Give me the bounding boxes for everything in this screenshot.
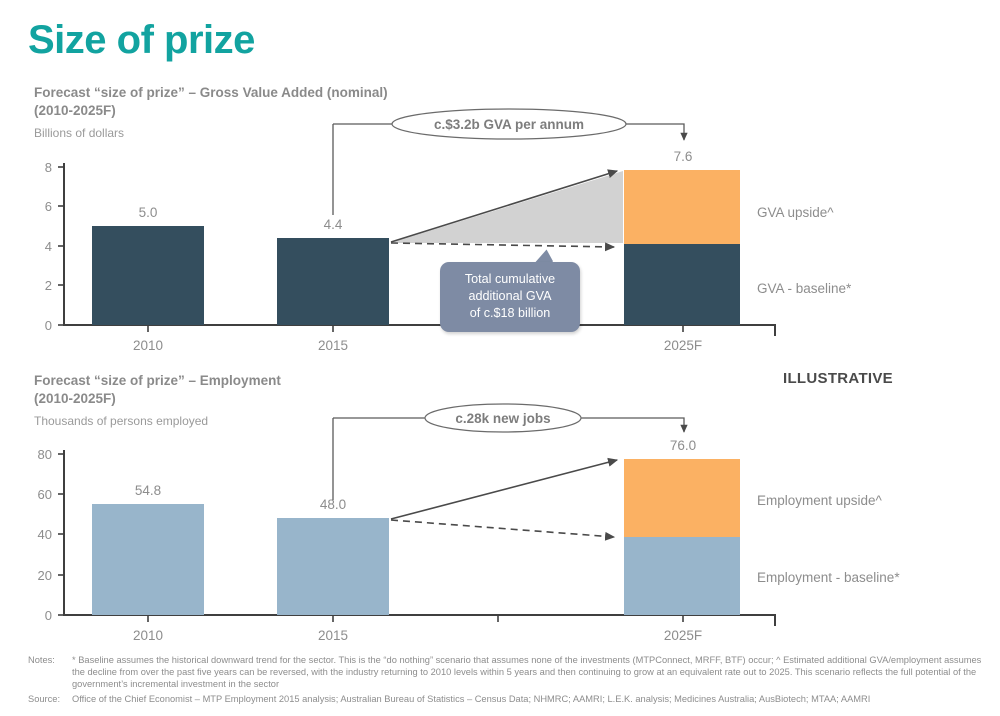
emp-ytick-20: 20 xyxy=(38,568,52,583)
callout-line-1: Total cumulative xyxy=(448,271,572,288)
emp-bar-2010 xyxy=(92,504,204,615)
emp-ytick-80: 80 xyxy=(38,447,52,462)
emp-cat-2010: 2010 xyxy=(133,628,163,643)
notes-label: Notes: xyxy=(28,654,55,666)
chart-employment: 80 60 40 20 0 54.8 48.0 76.0 2010 2015 2… xyxy=(0,0,1000,716)
emp-legend-baseline: Employment - baseline* xyxy=(757,570,900,585)
emp-bar-2025-upside xyxy=(624,459,740,537)
emp-cat-2025: 2025F xyxy=(664,628,702,643)
emp-growth-arrow xyxy=(391,460,617,519)
notes-text: * Baseline assumes the historical downwa… xyxy=(72,654,984,691)
callout-line-3: of c.$18 billion xyxy=(448,305,572,322)
source-label: Source: xyxy=(28,693,60,705)
emp-cat-2015: 2015 xyxy=(318,628,348,643)
emp-value-2025: 76.0 xyxy=(670,438,696,453)
emp-annotation-text: c.28k new jobs xyxy=(455,411,550,426)
emp-bar-2025-baseline xyxy=(624,537,740,615)
emp-annotation-leader-right xyxy=(581,418,684,432)
emp-bar-2015 xyxy=(277,518,389,615)
callout-bubble: Total cumulative additional GVA of c.$18… xyxy=(440,262,580,332)
source-text: Office of the Chief Economist – MTP Empl… xyxy=(72,693,984,705)
emp-ytick-60: 60 xyxy=(38,487,52,502)
emp-value-2010: 54.8 xyxy=(135,483,161,498)
emp-ytick-40: 40 xyxy=(38,527,52,542)
callout-line-2: additional GVA xyxy=(448,288,572,305)
emp-legend-upside: Employment upside^ xyxy=(757,493,883,508)
slide-canvas: Size of prize ILLUSTRATIVE Forecast “siz… xyxy=(0,0,1000,716)
emp-ytick-0: 0 xyxy=(45,608,52,623)
emp-baseline-arrow xyxy=(391,520,614,537)
